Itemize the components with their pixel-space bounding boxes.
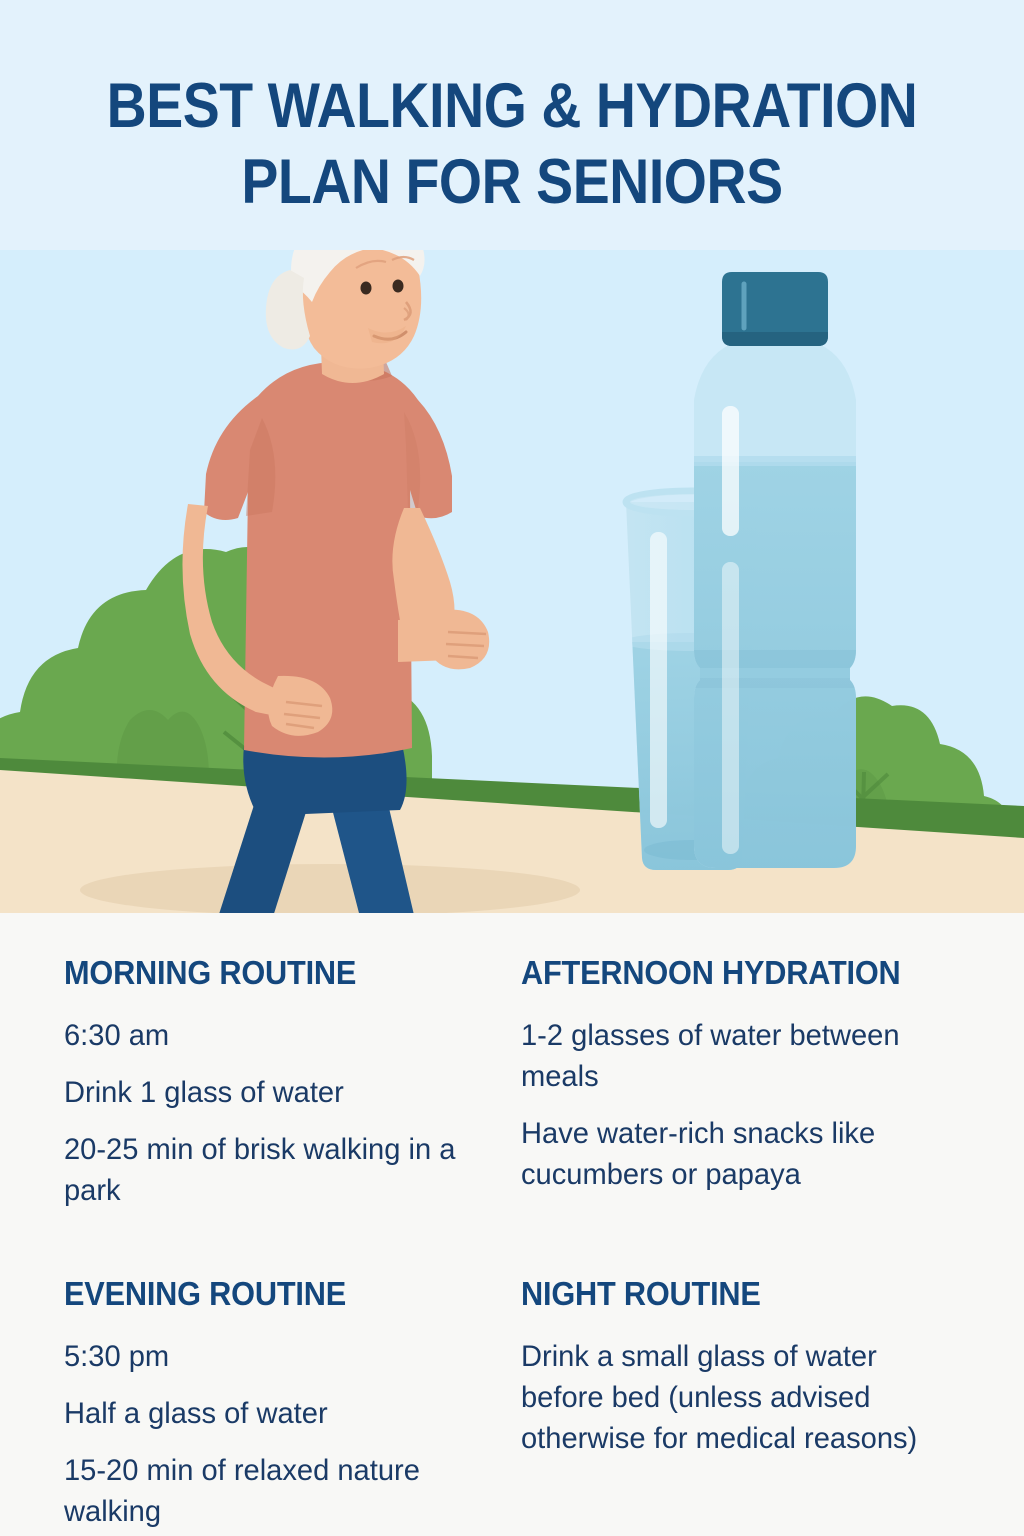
eye-right (393, 280, 404, 293)
bottle-ridge-upper (688, 650, 862, 668)
section-line: Half a glass of water (64, 1393, 463, 1434)
section-line: 20-25 min of brisk walking in a park (64, 1129, 463, 1211)
section-morning-routine: MORNING ROUTINE 6:30 am Drink 1 glass of… (0, 953, 497, 1211)
page-title: BEST WALKING & HYDRATION PLAN FOR SENIOR… (61, 68, 962, 220)
section-heading: EVENING ROUTINE (64, 1274, 446, 1314)
bottle-highlight-bottom (722, 562, 739, 854)
routine-sections-panel: MORNING ROUTINE 6:30 am Drink 1 glass of… (0, 913, 1024, 1536)
section-line: 1-2 glasses of water between meals (521, 1015, 953, 1097)
section-line: Drink 1 glass of water (64, 1072, 463, 1113)
section-heading: MORNING ROUTINE (64, 953, 446, 993)
section-line: Drink a small glass of water before bed … (521, 1336, 953, 1459)
water-bottle (688, 272, 862, 882)
bottle-water (688, 462, 862, 882)
glass-highlight (650, 532, 667, 828)
infographic-poster: BEST WALKING & HYDRATION PLAN FOR SENIOR… (0, 0, 1024, 1536)
section-heading: AFTERNOON HYDRATION (521, 953, 935, 993)
section-evening-routine: EVENING ROUTINE 5:30 pm Half a glass of … (0, 1211, 497, 1532)
routine-grid: MORNING ROUTINE 6:30 am Drink 1 glass of… (0, 913, 1024, 1532)
eye-left (361, 282, 372, 295)
section-afternoon-hydration: AFTERNOON HYDRATION 1-2 glasses of water… (497, 953, 984, 1211)
section-heading: NIGHT ROUTINE (521, 1274, 935, 1314)
section-night-routine: NIGHT ROUTINE Drink a small glass of wat… (497, 1211, 984, 1532)
bottle-highlight-top (722, 406, 739, 536)
bottle-ridge-lower (688, 678, 862, 688)
section-line: Have water-rich snacks like cucumbers or… (521, 1113, 953, 1195)
hero-illustration (0, 250, 1024, 913)
section-line: 15-20 min of relaxed nature walking (64, 1450, 463, 1532)
section-line: 5:30 pm (64, 1336, 463, 1377)
section-line: 6:30 am (64, 1015, 463, 1056)
